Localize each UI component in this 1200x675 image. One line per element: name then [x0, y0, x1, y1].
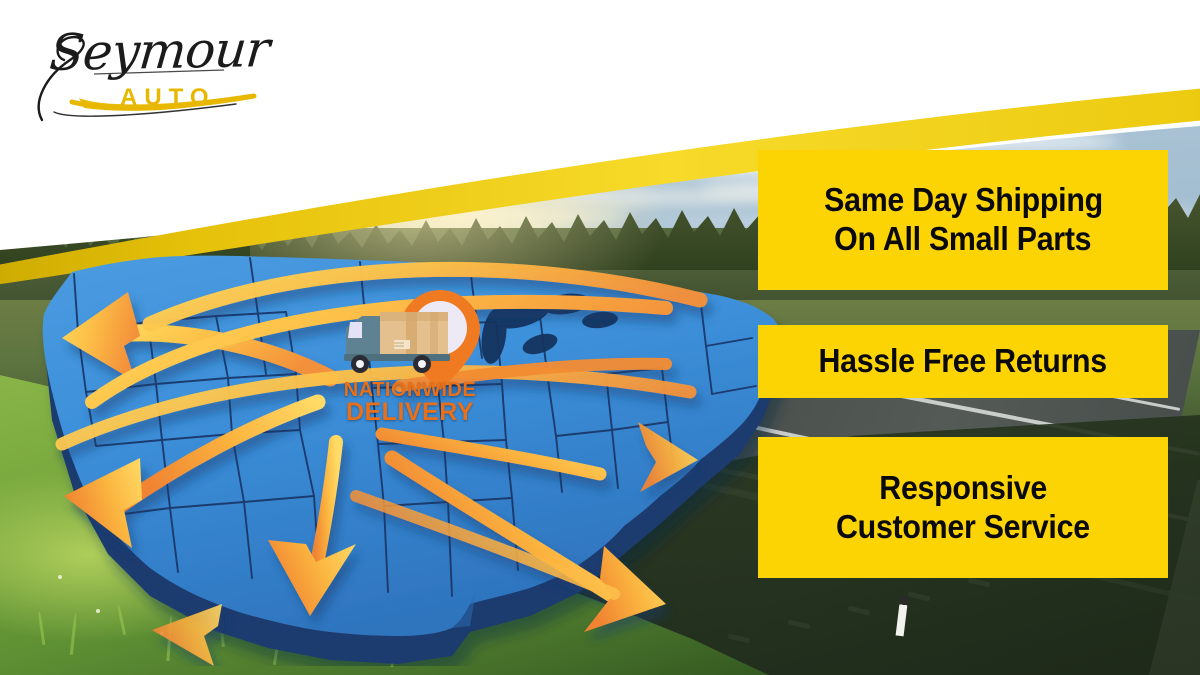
seymour-auto-logo[interactable]: Seymour AUTO: [24, 16, 274, 128]
banner1-line-1: Same Day Shipping: [824, 181, 1103, 220]
badge-line-2: DELIVERY: [330, 400, 490, 426]
promo-banner-canvas: Seymour AUTO: [0, 0, 1200, 675]
banner2-line-1: Hassle Free Returns: [819, 342, 1107, 381]
banner-same-day-shipping[interactable]: Same Day Shipping On All Small Parts: [758, 150, 1168, 290]
banner1-line-2: On All Small Parts: [834, 220, 1091, 259]
banner-responsive-customer-service[interactable]: Responsive Customer Service: [758, 437, 1168, 578]
banner3-line-1: Responsive: [879, 469, 1047, 508]
banner3-line-2: Customer Service: [836, 508, 1090, 547]
nationwide-delivery-badge: NATIONWIDE DELIVERY: [328, 282, 503, 447]
logo-wordmark: Seymour: [47, 20, 271, 82]
banner-hassle-free-returns[interactable]: Hassle Free Returns: [758, 325, 1168, 398]
logo-subtext: AUTO: [120, 84, 216, 112]
badge-caption: NATIONWIDE DELIVERY: [330, 380, 490, 426]
badge-line-1: NATIONWIDE: [330, 380, 490, 400]
